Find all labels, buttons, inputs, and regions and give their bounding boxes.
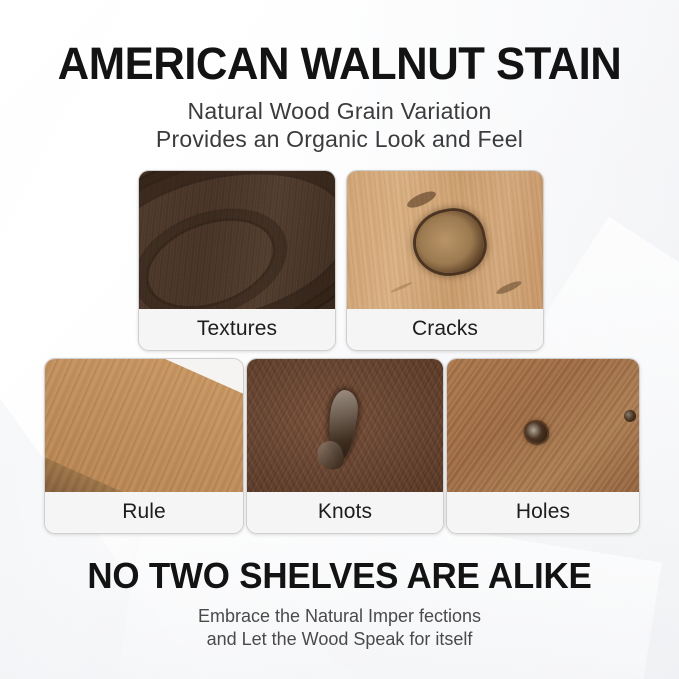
footer-title: NO TWO SHELVES ARE ALIKE (10, 556, 669, 596)
wood-crack-swatch (347, 171, 543, 309)
header-subtitle-line-1: Natural Wood Grain Variation (0, 97, 679, 125)
gallery-label-rule: Rule (45, 492, 243, 531)
footer-subtitle: Embrace the Natural Imper fections and L… (0, 605, 679, 651)
header-subtitle: Natural Wood Grain Variation Provides an… (0, 97, 679, 153)
gallery-photo-textures (139, 171, 335, 309)
gallery-label-holes: Holes (447, 492, 639, 531)
header-subtitle-line-2: Provides an Organic Look and Feel (0, 125, 679, 153)
gallery-photo-holes (447, 359, 639, 492)
wood-texture-swatch (139, 171, 335, 309)
gallery-card-cracks[interactable]: Cracks (346, 170, 544, 351)
wood-hole-swatch (447, 359, 639, 492)
page-title: AMERICAN WALNUT STAIN (10, 40, 669, 87)
footer-subtitle-line-1: Embrace the Natural Imper fections (0, 605, 679, 628)
wood-knot-swatch (247, 359, 443, 492)
gallery-card-rule[interactable]: Rule (44, 358, 244, 534)
gallery-photo-knots (247, 359, 443, 492)
footer-block: NO TWO SHELVES ARE ALIKE Embrace the Nat… (0, 556, 679, 651)
gallery-card-holes[interactable]: Holes (446, 358, 640, 534)
poster-root: AMERICAN WALNUT STAIN Natural Wood Grain… (0, 0, 679, 679)
gallery-label-cracks: Cracks (347, 309, 543, 348)
gallery-label-textures: Textures (139, 309, 335, 348)
gallery-photo-cracks (347, 171, 543, 309)
gallery-card-textures[interactable]: Textures (138, 170, 336, 351)
gallery-card-knots[interactable]: Knots (246, 358, 444, 534)
gallery-photo-rule (45, 359, 243, 492)
header-block: AMERICAN WALNUT STAIN Natural Wood Grain… (0, 40, 679, 153)
gallery-label-knots: Knots (247, 492, 443, 531)
footer-subtitle-line-2: and Let the Wood Speak for itself (0, 628, 679, 651)
wood-rule-swatch (45, 359, 243, 492)
